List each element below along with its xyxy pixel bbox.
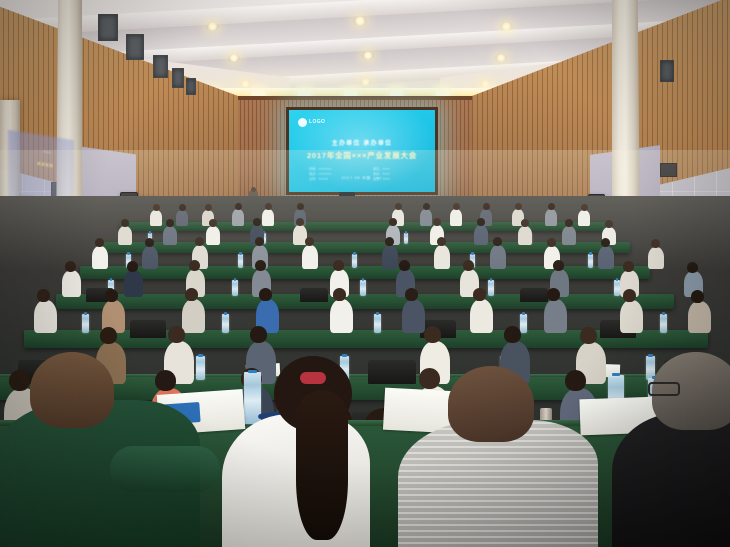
- water-bottle: [404, 233, 408, 244]
- attendee: [518, 226, 532, 245]
- wall-vent-right: [660, 163, 677, 177]
- attendee: [545, 209, 557, 226]
- attendee-head: [521, 219, 529, 227]
- ceiling-downlight: [240, 80, 251, 88]
- clerestory-window: [153, 55, 168, 78]
- attendee: [382, 245, 398, 269]
- attendee-head: [168, 326, 185, 343]
- ceiling-downlight: [353, 16, 367, 26]
- water-bottle: [232, 280, 238, 296]
- attendee-head: [605, 220, 613, 228]
- screen-title: 2017年全国×××产业发展大会: [289, 150, 435, 161]
- water-bottle: [488, 280, 494, 296]
- fg-man-green-polo-arm: [110, 446, 220, 492]
- attendee: [163, 226, 177, 245]
- water-bottle: [82, 314, 89, 333]
- hair-tie: [300, 372, 326, 384]
- attendee-head: [547, 238, 556, 247]
- attendee-head: [333, 260, 344, 271]
- attendee: [648, 247, 664, 269]
- audience-chair: [300, 288, 328, 302]
- fg-man-black-tee: [612, 412, 730, 547]
- attendee-head: [623, 289, 636, 302]
- attendee: [330, 299, 353, 333]
- water-bottle: [520, 314, 527, 333]
- attendee-head: [399, 260, 410, 271]
- attendee-head: [405, 288, 418, 301]
- attendee-head: [385, 237, 394, 246]
- attendee-head: [235, 203, 242, 210]
- attendee-head: [296, 218, 304, 226]
- water-bottle: [588, 254, 593, 268]
- attendee-head: [424, 326, 441, 343]
- water-bottle: [360, 280, 366, 296]
- attendee-head: [504, 326, 521, 343]
- screen-date-line: 2017.09 中国 · ××: [289, 176, 435, 181]
- attendee-head: [483, 203, 490, 210]
- attendee-head: [553, 260, 564, 271]
- organizer-logo-text: LOGO: [309, 119, 325, 125]
- attendee: [688, 301, 711, 333]
- attendee-head: [473, 288, 486, 301]
- attendee-head: [121, 219, 129, 227]
- attendee-head: [477, 218, 485, 226]
- attendee-head: [153, 204, 160, 211]
- organizer-logo-icon: [298, 118, 307, 127]
- attendee-head: [65, 261, 76, 272]
- attendee: [420, 209, 432, 226]
- attendee-head: [37, 289, 50, 302]
- attendee: [150, 210, 162, 226]
- attendee-head: [581, 204, 588, 211]
- ceiling-downlight: [228, 54, 240, 62]
- speaker-at-podium-head: [251, 187, 256, 192]
- attendee: [402, 299, 425, 333]
- clerestory-window: [186, 78, 196, 95]
- attendee: [262, 209, 274, 226]
- attendee-head: [255, 260, 266, 271]
- attendee-head: [453, 203, 460, 210]
- attendee: [578, 210, 590, 226]
- attendee-head: [437, 237, 446, 246]
- audience-chair: [130, 320, 166, 338]
- attendee-head: [580, 327, 597, 344]
- water-bottle: [374, 314, 381, 333]
- attendee-head: [205, 204, 212, 211]
- attendee: [34, 300, 57, 333]
- attendee-head: [255, 237, 264, 246]
- projection-screen: LOGO 主办单位 承办单位 2017年全国×××产业发展大会 时间：×××××…: [289, 110, 435, 192]
- attendee-head: [297, 203, 304, 210]
- attendee: [62, 270, 81, 297]
- attendee-head: [691, 290, 704, 303]
- attendee-head: [419, 368, 440, 389]
- attendee-head: [565, 219, 573, 227]
- screen-headline: 主办单位 承办单位: [289, 138, 435, 147]
- attendee: [450, 209, 462, 226]
- attendee-head: [166, 219, 174, 227]
- attendee-head: [209, 219, 217, 227]
- attendee-head: [333, 288, 346, 301]
- attendee: [118, 226, 132, 245]
- attendee-head: [651, 239, 660, 248]
- attendee-head: [395, 203, 402, 210]
- attendee-head: [515, 203, 522, 210]
- ceiling-downlight: [500, 22, 513, 31]
- ceiling-downlight: [360, 78, 371, 86]
- attendee-head: [250, 326, 267, 343]
- water-bottle: [238, 254, 243, 268]
- attendee: [598, 246, 614, 269]
- attendee: [470, 299, 493, 333]
- audience-chair: [520, 288, 548, 302]
- attendee: [474, 225, 488, 245]
- water-bottle: [352, 254, 357, 268]
- attendee-head: [687, 262, 698, 273]
- water-bottle: [660, 314, 667, 333]
- table-row: [120, 222, 610, 231]
- attendee-head: [145, 238, 154, 247]
- attendee-head: [259, 288, 272, 301]
- ceiling-downlight: [362, 51, 374, 60]
- attendee: [490, 245, 506, 269]
- attendee: [620, 300, 643, 333]
- attendee-head: [189, 260, 200, 271]
- attendee-head: [547, 288, 560, 301]
- clerestory-window: [660, 60, 674, 82]
- attendee: [182, 299, 205, 333]
- attendee-head: [423, 203, 430, 210]
- attendee: [92, 246, 108, 269]
- table-row: [56, 294, 674, 309]
- attendee: [206, 226, 220, 245]
- attendee-head: [127, 261, 138, 272]
- attendee: [142, 246, 158, 269]
- attendee: [562, 226, 576, 245]
- attendee-head: [389, 218, 397, 226]
- fg-woman-ponytail: [296, 390, 348, 540]
- attendee-head: [548, 203, 555, 210]
- audience-chair: [368, 360, 416, 384]
- attendee-head: [601, 238, 610, 247]
- attendee: [124, 270, 143, 297]
- attendee-head: [623, 261, 634, 272]
- attendee-head: [195, 237, 204, 246]
- attendee-head: [105, 289, 118, 302]
- attendee-head: [155, 370, 176, 391]
- attendee: [434, 245, 450, 269]
- water-bottle: [222, 314, 229, 333]
- water-bottle: [196, 356, 205, 380]
- clerestory-window: [126, 34, 144, 60]
- attendee-head: [305, 237, 314, 246]
- attendee-head: [565, 370, 586, 391]
- clerestory-window: [98, 14, 118, 41]
- attendee-head: [95, 238, 104, 247]
- attendee-head: [253, 218, 261, 226]
- attendee-head: [9, 370, 30, 391]
- fg-man-grey-stripe-head: [448, 366, 534, 442]
- attendee: [544, 299, 567, 333]
- attendee-head: [265, 203, 272, 210]
- attendee-head: [100, 327, 117, 344]
- projection-screen-frame: LOGO 主办单位 承办单位 2017年全国×××产业发展大会 时间：×××××…: [286, 107, 438, 195]
- attendee: [176, 210, 188, 226]
- ceiling-downlight: [480, 80, 491, 88]
- clerestory-window: [172, 68, 184, 88]
- attendee-head: [185, 288, 198, 301]
- eyeglasses-icon: [648, 382, 680, 396]
- ceiling-downlight: [495, 54, 507, 62]
- fg-man-green-polo-head: [30, 352, 114, 428]
- attendee-head: [179, 204, 186, 211]
- attendee-head: [463, 260, 474, 271]
- conference-hall-photo: ××× ×××× LOGO 主办单位 承办单位 2017年全国×××产业发展大会…: [0, 0, 730, 547]
- attendee: [232, 209, 244, 226]
- attendee: [302, 245, 318, 269]
- attendee-head: [433, 218, 441, 226]
- attendee-head: [493, 237, 502, 246]
- ceiling-downlight: [206, 22, 219, 31]
